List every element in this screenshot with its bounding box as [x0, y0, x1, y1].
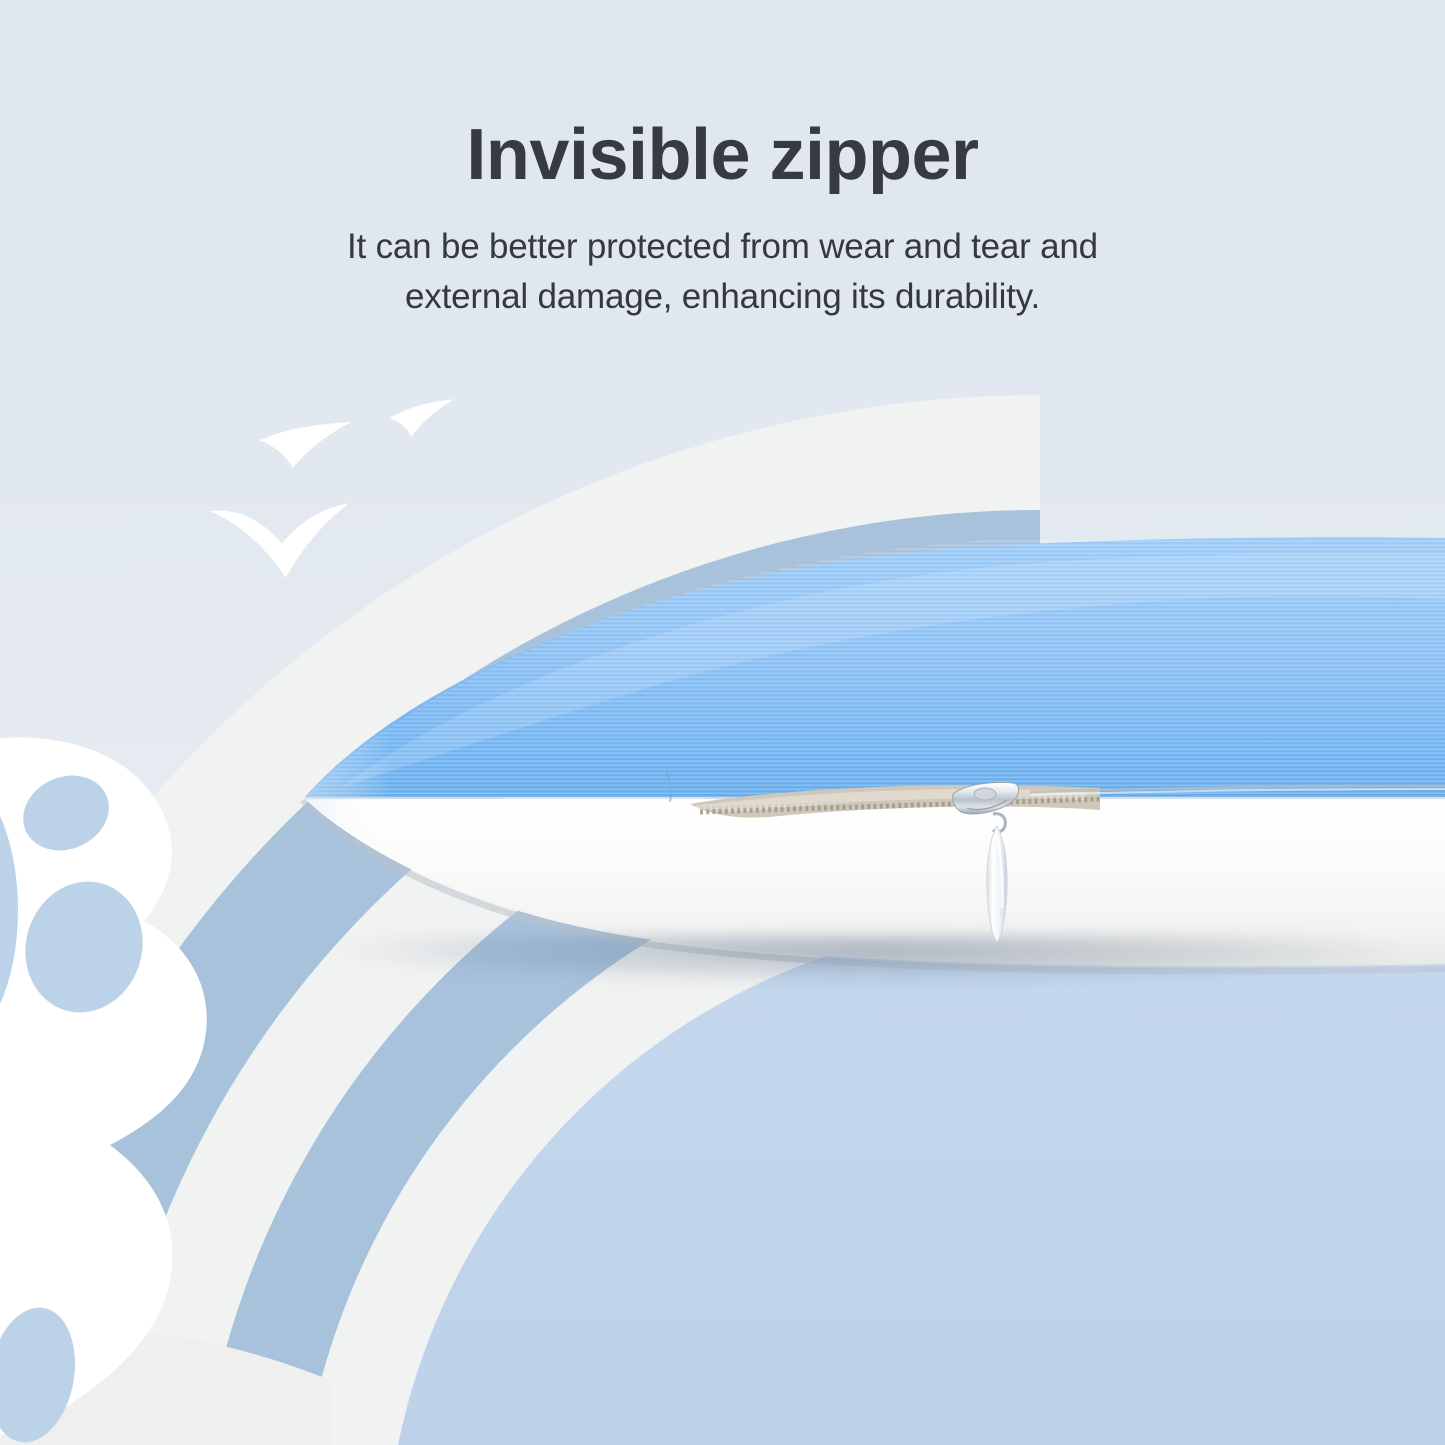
product-feature-scene: Invisible zipper It can be better protec…	[0, 0, 1445, 1445]
page-title: Invisible zipper	[0, 118, 1445, 194]
zipper-pull-tab[interactable]	[977, 812, 1017, 944]
subtitle-line-1: It can be better protected from wear and…	[0, 222, 1445, 273]
seagull-large-icon	[260, 422, 352, 468]
text-block: Invisible zipper It can be better protec…	[0, 118, 1445, 323]
zipper-slider-oval-detail	[974, 788, 996, 800]
pillow-illustration	[0, 520, 1445, 1000]
page-subtitle: It can be better protected from wear and…	[0, 222, 1445, 324]
seagull-small-icon	[390, 399, 454, 436]
subtitle-line-2: external damage, enhancing its durabilit…	[0, 272, 1445, 323]
zipper-pull-body	[987, 826, 1007, 942]
pillow-contact-shadow	[330, 935, 1410, 985]
pillow-svg	[0, 520, 1445, 1000]
